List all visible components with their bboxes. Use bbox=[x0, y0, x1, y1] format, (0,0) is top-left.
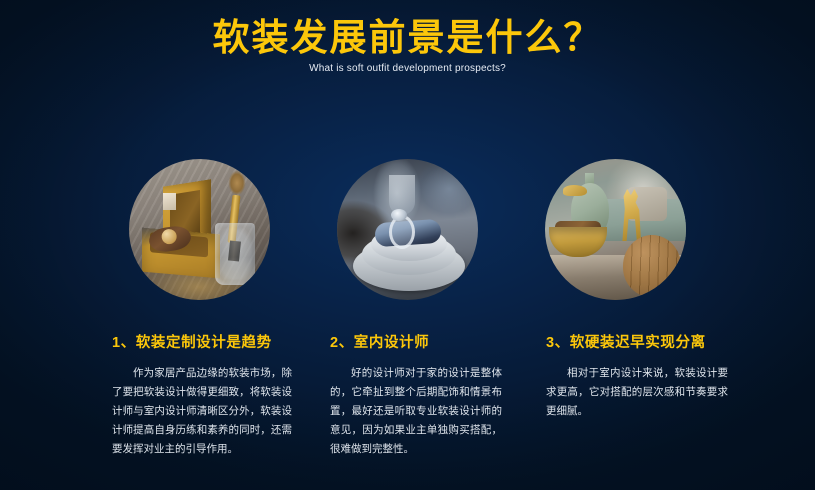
napkin-ring-gem bbox=[391, 209, 407, 221]
column-1-body: 作为家居产品边缘的软装市场，除了要把软装设计做得更细致，将软装设计师与室内设计师… bbox=[112, 364, 292, 460]
drinking-glass bbox=[215, 223, 255, 285]
table-setting-plates-napkin-image bbox=[337, 159, 478, 300]
photo-circle-2 bbox=[337, 159, 478, 300]
content-column-1: 1、软装定制设计是趋势 作为家居产品边缘的软装市场，除了要把软装设计做得更细致，… bbox=[112, 331, 292, 460]
gold-bowl bbox=[549, 227, 607, 257]
column-2-body: 好的设计师对于家的设计是整体的，它牵扯到整个后期配饰和情景布置，最好还是听取专业… bbox=[330, 364, 502, 460]
column-2-heading: 2、室内设计师 bbox=[330, 331, 502, 352]
column-1-heading: 1、软装定制设计是趋势 bbox=[112, 331, 292, 352]
page-subtitle: What is soft outfit development prospect… bbox=[0, 63, 815, 74]
content-column-3: 3、软硬装迟早实现分离 相对于室内设计来说，软装设计要求更高，它对搭配的层次感和… bbox=[546, 331, 728, 421]
gift-box-tag bbox=[163, 193, 176, 210]
column-3-body: 相对于室内设计来说，软装设计要求更高，它对搭配的层次感和节奏要求更细腻。 bbox=[546, 364, 728, 421]
photo-circle-3 bbox=[545, 159, 686, 300]
watch-face bbox=[161, 228, 178, 245]
photo-circle-1 bbox=[129, 159, 270, 300]
gold-bird-figurine bbox=[563, 185, 587, 196]
gold-gift-box-watch-brush-image bbox=[129, 159, 270, 300]
page-title: 软装发展前景是什么？ bbox=[0, 17, 815, 60]
content-column-2: 2、室内设计师 好的设计师对于家的设计是整体的，它牵扯到整个后期配饰和情景布置，… bbox=[330, 331, 502, 460]
column-3-heading: 3、软硬装迟早实现分离 bbox=[546, 331, 728, 352]
pumpkin-ornament bbox=[623, 235, 681, 297]
slide-canvas: 软装发展前景是什么？ What is soft outfit developme… bbox=[0, 0, 815, 490]
living-room-gold-deer-pumpkin-image bbox=[545, 159, 686, 300]
